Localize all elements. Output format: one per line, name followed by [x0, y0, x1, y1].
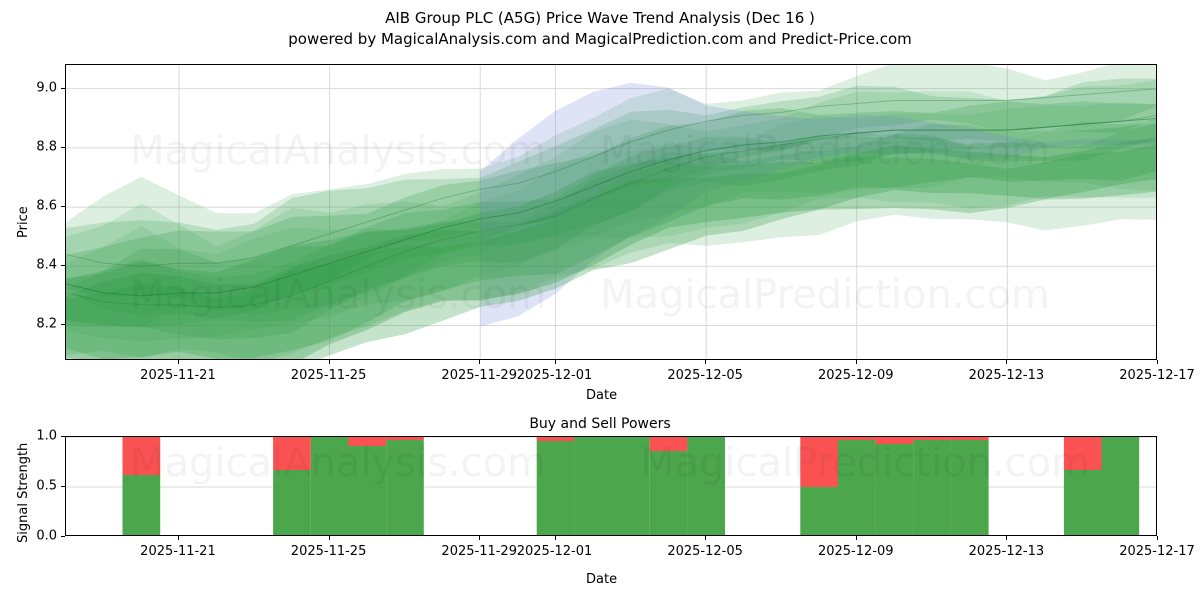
price-ytick — [61, 324, 65, 325]
price-ytick-label: 8.6 — [14, 199, 57, 214]
buy-bar — [838, 440, 876, 536]
chart-page: AIB Group PLC (A5G) Price Wave Trend Ana… — [0, 0, 1200, 600]
price-ytick — [61, 265, 65, 266]
signal-xtick-label: 2025-12-05 — [667, 544, 743, 559]
sell-bar — [951, 437, 989, 440]
price-xtick-label: 2025-12-05 — [667, 368, 743, 383]
price-ytick-label: 9.0 — [14, 80, 57, 95]
sell-bar — [386, 437, 424, 440]
buy-bar — [913, 440, 951, 536]
signal-ytick — [61, 436, 65, 437]
buy-bar — [574, 437, 612, 536]
signal-xtick — [178, 536, 179, 540]
price-xtick — [856, 360, 857, 364]
signal-ytick-label: 1.0 — [14, 429, 57, 444]
signal-xtick-label: 2025-12-09 — [818, 544, 894, 559]
signal-xtick-label: 2025-11-25 — [291, 544, 367, 559]
price-xtick-label: 2025-11-25 — [291, 368, 367, 383]
price-ytick-label: 8.2 — [14, 317, 57, 332]
price-ytick — [61, 206, 65, 207]
price-xtick — [479, 360, 480, 364]
sell-bar — [800, 437, 838, 487]
buy-bar — [951, 440, 989, 536]
signal-xtick — [1157, 536, 1158, 540]
sell-bar — [876, 437, 914, 444]
signal-ytick — [61, 536, 65, 537]
buy-bar — [537, 441, 575, 536]
buy-sell-panel: Buy and Sell Powers Signal Strength 0.00… — [0, 400, 1200, 600]
price-xtick — [1006, 360, 1007, 364]
price-xtick — [178, 360, 179, 364]
signal-xtick-label: 2025-12-17 — [1119, 544, 1195, 559]
buy-bar — [1064, 470, 1102, 536]
signal-xtick — [856, 536, 857, 540]
buy-sell-plot-area — [65, 436, 1157, 536]
signal-ytick — [61, 486, 65, 487]
price-xtick-label: 2025-12-01 — [517, 368, 593, 383]
price-xtick — [1157, 360, 1158, 364]
signal-xaxis-label: Date — [586, 572, 617, 587]
buy-bar — [273, 470, 311, 536]
sell-bar — [838, 437, 876, 440]
buy-sell-svg — [66, 437, 1157, 536]
price-wave-panel: Price 8.28.48.68.89.02025-11-212025-11-2… — [0, 0, 1200, 400]
buy-bar — [386, 440, 424, 536]
price-ytick-label: 8.4 — [14, 258, 57, 273]
signal-xtick — [479, 536, 480, 540]
price-xtick-label: 2025-11-21 — [140, 368, 216, 383]
price-plot-area — [65, 64, 1157, 360]
price-ytick — [61, 88, 65, 89]
signal-xtick — [329, 536, 330, 540]
buy-bar — [311, 437, 349, 536]
sell-bar — [913, 437, 951, 440]
price-xtick — [705, 360, 706, 364]
buy-bar — [123, 475, 161, 536]
buy-bar — [800, 487, 838, 536]
buy-bar — [687, 437, 725, 536]
signal-xtick-label: 2025-11-29 — [441, 544, 517, 559]
buy-bar — [650, 451, 688, 536]
sell-bar — [123, 437, 161, 475]
sell-bar — [273, 437, 311, 470]
signal-xtick-label: 2025-12-01 — [517, 544, 593, 559]
sell-bar — [650, 437, 688, 451]
price-ytick — [61, 147, 65, 148]
price-xtick — [329, 360, 330, 364]
price-xtick — [555, 360, 556, 364]
signal-xtick — [1006, 536, 1007, 540]
price-xtick-label: 2025-12-13 — [969, 368, 1045, 383]
price-ytick-label: 8.8 — [14, 139, 57, 154]
buy-bar — [612, 437, 650, 536]
sell-bar — [537, 437, 575, 441]
sell-bar — [1064, 437, 1102, 470]
price-wave-svg — [66, 65, 1157, 360]
signal-ytick-label: 0.0 — [14, 529, 57, 544]
signal-xtick — [705, 536, 706, 540]
price-xtick-label: 2025-11-29 — [441, 368, 517, 383]
signal-xtick-label: 2025-12-13 — [969, 544, 1045, 559]
buy-bar — [876, 444, 914, 536]
buy-sell-title: Buy and Sell Powers — [0, 416, 1200, 432]
signal-xtick-label: 2025-11-21 — [140, 544, 216, 559]
buy-bar — [348, 446, 386, 536]
price-xtick-label: 2025-12-17 — [1119, 368, 1195, 383]
signal-ytick-label: 0.5 — [14, 479, 57, 494]
buy-bar — [1102, 437, 1140, 536]
price-xtick-label: 2025-12-09 — [818, 368, 894, 383]
sell-bar — [348, 437, 386, 446]
signal-xtick — [555, 536, 556, 540]
